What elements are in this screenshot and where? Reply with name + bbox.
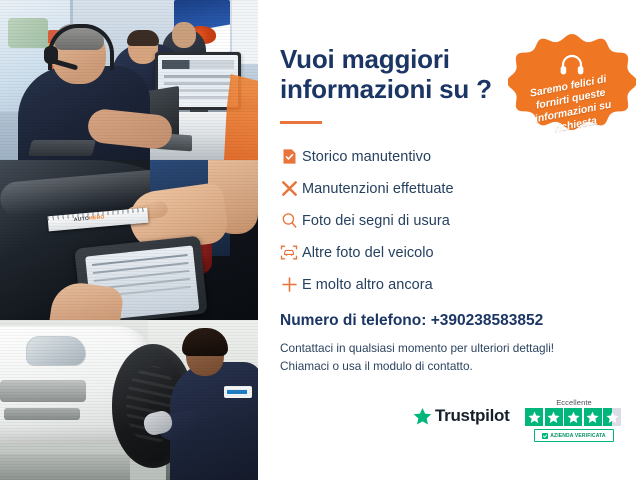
- magnifier-icon: [276, 210, 302, 232]
- verified-check-icon: [542, 433, 548, 439]
- verified-business-label: AZIENDA VERIFICATA: [550, 433, 605, 439]
- page-title-line-1: Vuoi maggiori: [280, 44, 530, 74]
- list-item-label: Manutenzioni effettuate: [302, 181, 454, 197]
- list-item-label: Storico manutentivo: [302, 149, 431, 165]
- feature-list: Storico manutentivo Manutenzioni effettu…: [276, 142, 616, 302]
- trustpilot-star-icon: [413, 407, 432, 426]
- trustpilot-brand-label: Trustpilot: [435, 406, 509, 426]
- document-check-icon: [276, 146, 302, 168]
- list-item: Altre foto del veicolo: [276, 238, 616, 267]
- star-half-icon: [603, 408, 621, 426]
- star-filled-icon: [545, 408, 563, 426]
- list-item-label: Foto dei segni di usura: [302, 213, 450, 229]
- tools-cross-icon: [276, 178, 302, 200]
- autohero-ruler-logo: AUTOHERO: [74, 214, 105, 223]
- list-item: Foto dei segni di usura: [276, 206, 616, 235]
- trustpilot-rating: Eccellente: [525, 398, 623, 442]
- list-item: Storico manutentivo: [276, 142, 616, 171]
- page-title: Vuoi maggiori informazioni su ?: [280, 44, 530, 104]
- contact-description: Contattaci in qualsiasi momento per ulte…: [280, 339, 620, 375]
- trustpilot-widget[interactable]: Trustpilot Eccellente: [413, 398, 629, 444]
- contact-description-line-1: Contattaci in qualsiasi momento per ulte…: [280, 339, 620, 357]
- star-filled-icon: [564, 408, 582, 426]
- trustpilot-logo: Trustpilot: [413, 406, 509, 426]
- content-panel: Vuoi maggiori informazioni su ? Saremo f…: [258, 0, 640, 480]
- callout-badge: Saremo felici di fornirti queste informa…: [508, 32, 636, 160]
- trustpilot-stars: [525, 408, 623, 426]
- star-filled-icon: [584, 408, 602, 426]
- star-filled-icon: [525, 408, 543, 426]
- list-item: Manutenzioni effettuate: [276, 174, 616, 203]
- car-scan-icon: [276, 242, 302, 264]
- phone-number: Numero di telefono: +390238583852: [280, 312, 543, 330]
- photo-strip: AUTOHERO: [0, 0, 258, 480]
- list-item-label: Altre foto del veicolo: [302, 245, 434, 261]
- page-title-line-2: informazioni su ?: [280, 74, 530, 104]
- marketing-banner: AUTOHERO Vuoi m: [0, 0, 640, 480]
- plus-icon: [276, 274, 302, 296]
- trustpilot-rating-label: Eccellente: [525, 398, 623, 407]
- wheel-inspection-photo: [0, 320, 258, 480]
- title-underline-rule: [280, 121, 322, 124]
- autohero-ruler-inspection-photo: AUTOHERO: [0, 160, 258, 320]
- call-center-agents-photo: [0, 0, 258, 160]
- contact-description-line-2: Chiamaci o usa il modulo di contatto.: [280, 357, 620, 375]
- headset-icon: [559, 54, 585, 76]
- list-item: E molto altro ancora: [276, 270, 616, 299]
- list-item-label: E molto altro ancora: [302, 277, 433, 293]
- verified-business-badge: AZIENDA VERIFICATA: [534, 429, 614, 442]
